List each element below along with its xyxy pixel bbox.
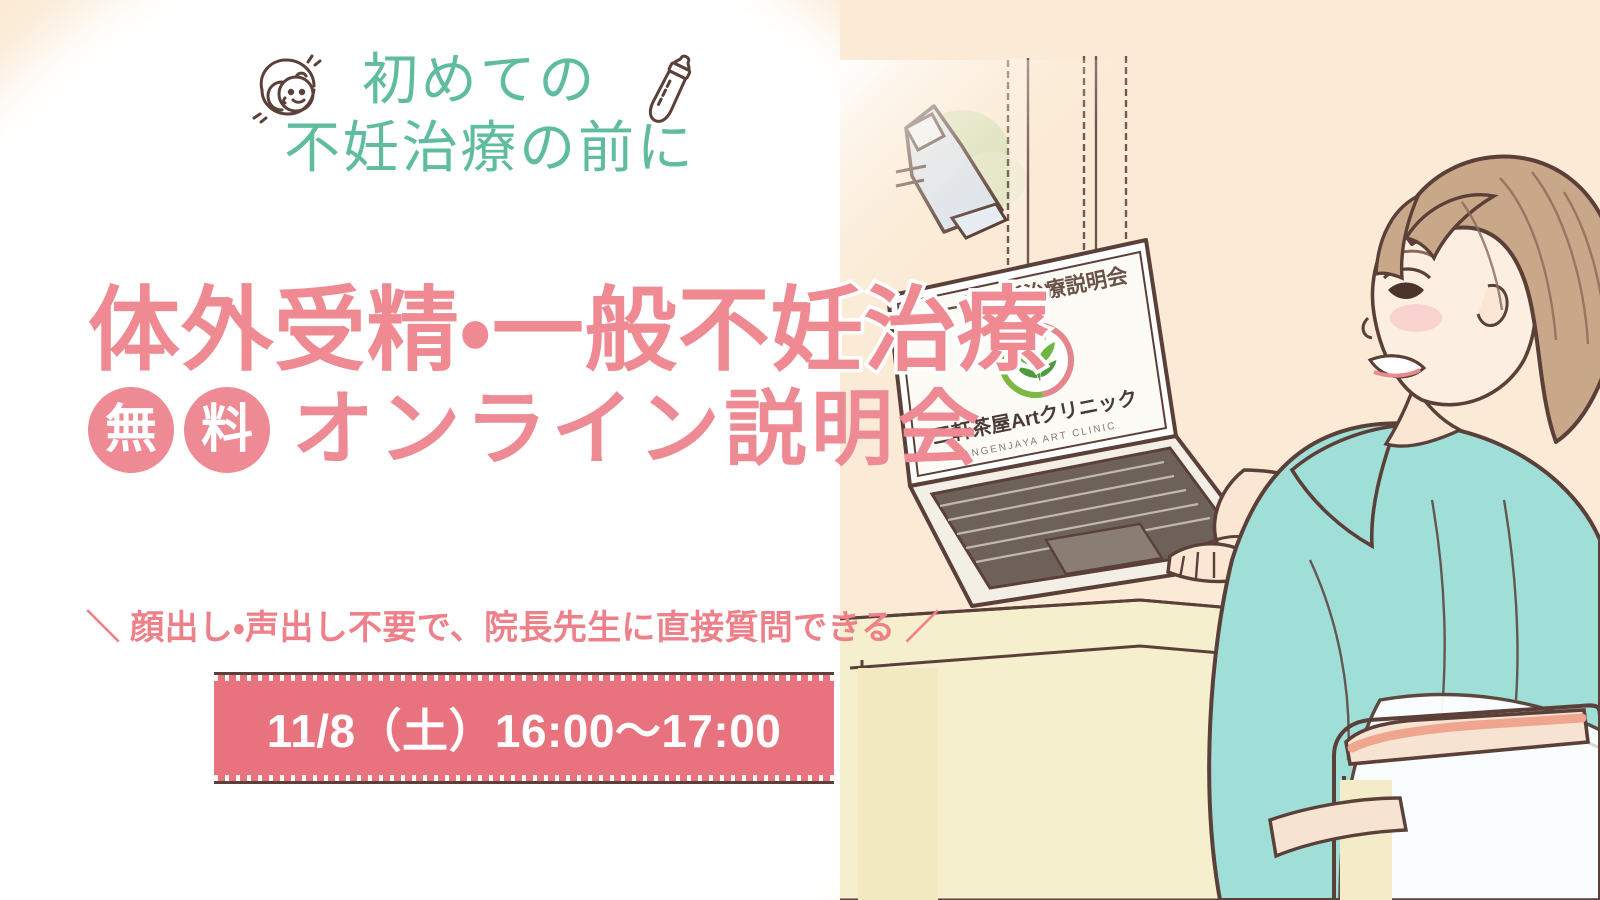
- sleeping-baby-icon: [252, 52, 324, 124]
- free-badge-ryo: 料: [184, 387, 270, 473]
- baby-bottle-icon: [642, 50, 698, 130]
- headline-line-2: 無 料 オンライン説明会: [88, 387, 988, 473]
- banner-canvas: 一般不妊治療説明会 三軒: [0, 0, 1600, 900]
- eyebrow-line-2: 不妊治療の前に: [284, 114, 810, 182]
- free-badge-mu: 無: [88, 387, 174, 473]
- date-banner-text: 11/8（土）16:00〜17:00: [267, 695, 782, 761]
- headline-line-1: 体外受精・一般不妊治療: [88, 282, 988, 381]
- subcopy-text: ＼ 顔出し・声出し不要で、院長先生に直接質問できる ／: [86, 600, 966, 649]
- headline-online-text: オンライン説明会: [292, 387, 984, 473]
- free-badge-group: 無 料: [88, 387, 270, 473]
- eyebrow-line-1: 初めての: [362, 46, 810, 114]
- eyebrow-block: 初めての 不妊治療の前に: [250, 46, 810, 216]
- headline-block: 体外受精・一般不妊治療 無 料 オンライン説明会: [88, 282, 988, 473]
- date-banner: 11/8（土）16:00〜17:00: [214, 672, 834, 784]
